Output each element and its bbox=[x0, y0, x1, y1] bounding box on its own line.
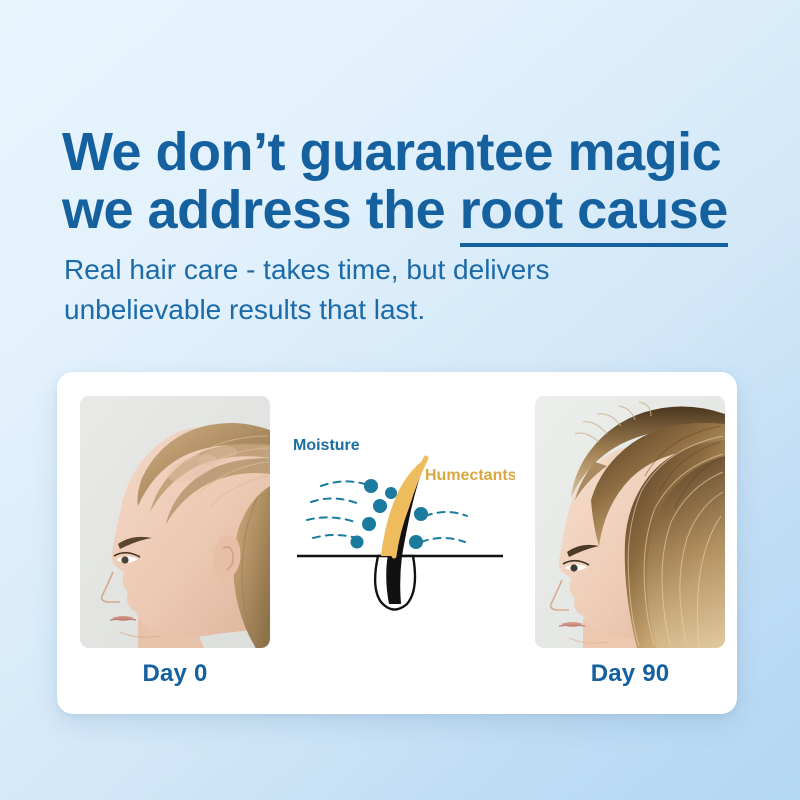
label-humectants: Humectants bbox=[425, 467, 515, 484]
after-photo-illustration bbox=[535, 396, 725, 648]
before-after-card: Moisture Humectants bbox=[57, 372, 737, 714]
humectant-streams-right bbox=[421, 512, 467, 542]
headline-line-1: We don’t guarantee magic bbox=[62, 124, 772, 182]
after-caption: Day 90 bbox=[535, 660, 725, 688]
follicle-diagram: Moisture Humectants bbox=[285, 428, 515, 618]
headline-line-2-prefix: we address the bbox=[62, 180, 460, 240]
before-caption: Day 0 bbox=[80, 660, 270, 688]
follicle-diagram-svg: Moisture Humectants bbox=[285, 428, 515, 618]
label-moisture: Moisture bbox=[293, 437, 360, 454]
subtitle: Real hair care - takes time, but deliver… bbox=[64, 250, 684, 330]
after-photo bbox=[535, 396, 725, 648]
subtitle-line-1: Real hair care - takes time, but deliver… bbox=[64, 250, 684, 290]
moisture-streams-left bbox=[307, 481, 365, 538]
headline-accent-underlined: root cause bbox=[460, 182, 728, 247]
headline-line-2: we address the root cause bbox=[62, 182, 772, 247]
before-photo-illustration bbox=[80, 396, 270, 648]
page-title: We don’t guarantee magic we address the … bbox=[62, 124, 772, 247]
promo-poster: We don’t guarantee magic we address the … bbox=[0, 0, 800, 800]
before-photo bbox=[80, 396, 270, 648]
subtitle-line-2: unbelievable results that last. bbox=[64, 290, 684, 330]
